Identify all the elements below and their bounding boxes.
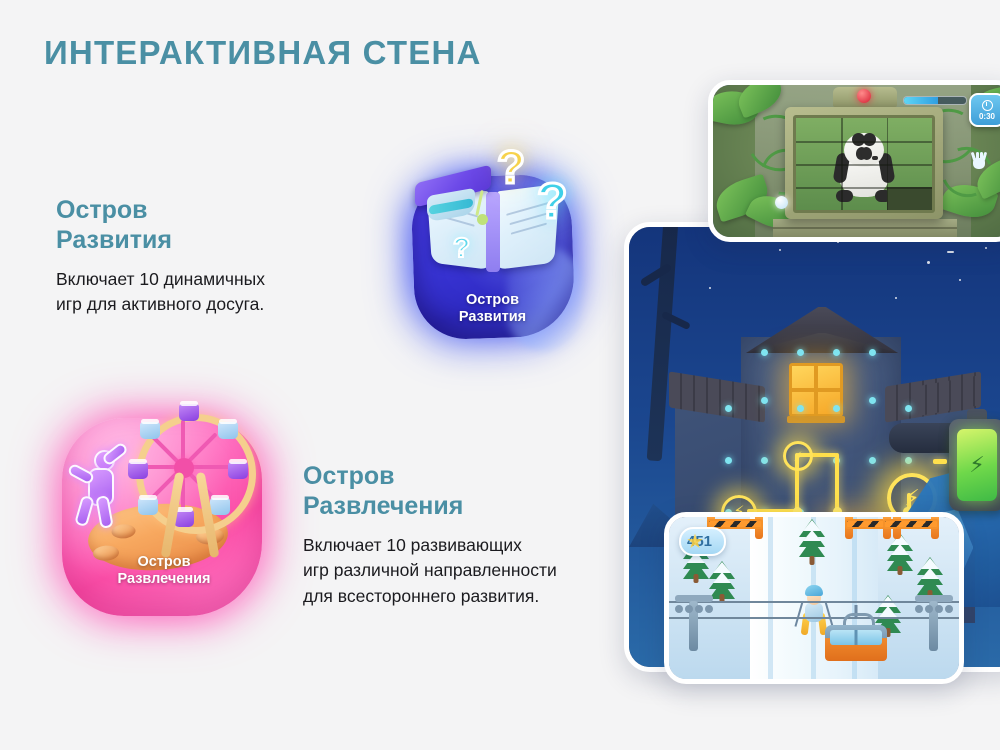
lift-pylon [675, 591, 713, 651]
slide-root: ИНТЕРАКТИВНАЯ СТЕНА Остров Развития Вклю… [0, 0, 1000, 750]
battery-module[interactable]: ⚡ [941, 407, 1000, 517]
puzzle-board[interactable] [793, 115, 935, 213]
question-mark-icon-cyan: ? [537, 176, 568, 226]
progress-fill [904, 97, 938, 104]
feature-text-entertainment: Остров Развлечения Включает 10 развивающ… [303, 462, 613, 609]
track-barrier [883, 513, 939, 539]
development-island-icon: ? ? ? Остров Развития [385, 126, 600, 361]
entertainment-island-icon: Остров Развлечения [40, 392, 288, 642]
cap-tassel-knot [477, 214, 488, 225]
question-mark-icon-yellow: ? [497, 144, 525, 190]
feature-body-entertainment: Включает 10 развивающих игр различной на… [303, 533, 613, 609]
feature-text-development: Остров Развития Включает 10 динамичных и… [56, 196, 331, 318]
puzzle-empty-slot[interactable] [887, 187, 932, 210]
screenshot-panda-sliding-puzzle[interactable]: 0:30 [708, 80, 1000, 242]
feature-body-development: Включает 10 динамичных игр для активного… [56, 267, 331, 318]
touch-point-indicator [775, 196, 788, 209]
timer-value: 0:30 [979, 112, 995, 121]
timer-badge: 0:30 [969, 93, 1000, 127]
page-title: ИНТЕРАКТИВНАЯ СТЕНА [44, 34, 482, 72]
entertainment-island-label: Остров Развлечения [40, 554, 288, 588]
person-figure-icon [72, 444, 134, 530]
ruby-gem-icon [857, 89, 871, 103]
screenshot-ski-slope-game[interactable]: 451 [664, 512, 964, 684]
circuit-bolt-node[interactable]: ⚡ [783, 441, 813, 471]
development-island-label: Остров Развития [385, 292, 600, 326]
feature-heading-entertainment: Остров Развлечения [303, 462, 613, 521]
ferris-wheel-stand [164, 472, 216, 558]
temple-stairs [773, 219, 957, 237]
level-progress-bar [903, 96, 967, 105]
cap-tassel [475, 190, 483, 216]
gondola-cabin [821, 605, 891, 661]
battery-charge-cell: ⚡ [957, 429, 997, 501]
ferris-wheel-icon [128, 414, 250, 554]
lift-pylon [915, 591, 953, 651]
graduation-cap-icon [415, 174, 491, 220]
puzzle-frame [785, 107, 943, 219]
hand-cursor-icon [971, 151, 987, 169]
question-mark-icon-small: ? [453, 234, 470, 262]
clock-icon [982, 100, 993, 111]
feature-heading-development: Остров Развития [56, 196, 331, 255]
score-badge: 451 [679, 527, 726, 556]
